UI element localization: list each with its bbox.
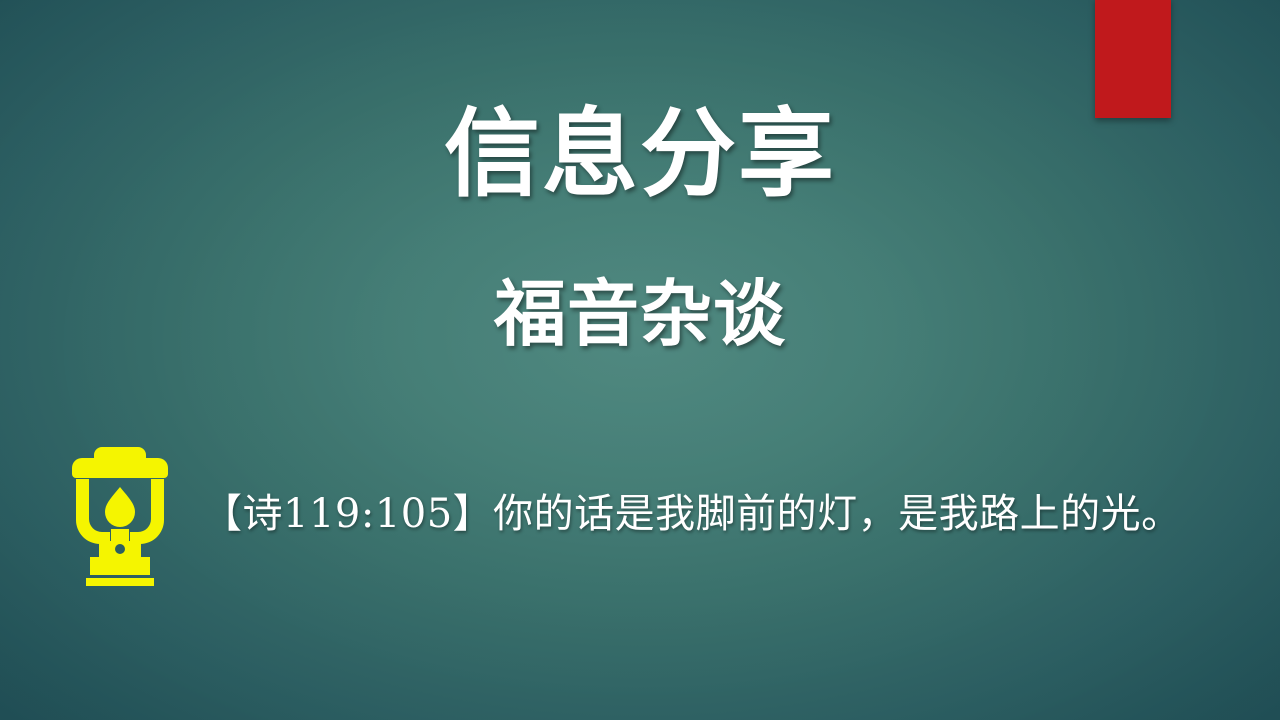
page-subtitle: 福音杂谈	[0, 276, 1280, 354]
lantern-icon	[68, 443, 172, 587]
lantern-icon-wrap	[62, 440, 178, 590]
red-accent-block	[1095, 0, 1171, 118]
scripture-verse: 【诗119:105】你的话是我脚前的灯，是我路上的光。	[178, 489, 1220, 540]
page-title: 信息分享	[0, 104, 1280, 206]
presentation-slide: 信息分享 福音杂谈	[0, 0, 1280, 720]
title-block: 信息分享 福音杂谈	[0, 104, 1280, 354]
scripture-row: 【诗119:105】你的话是我脚前的灯，是我路上的光。	[62, 440, 1220, 590]
